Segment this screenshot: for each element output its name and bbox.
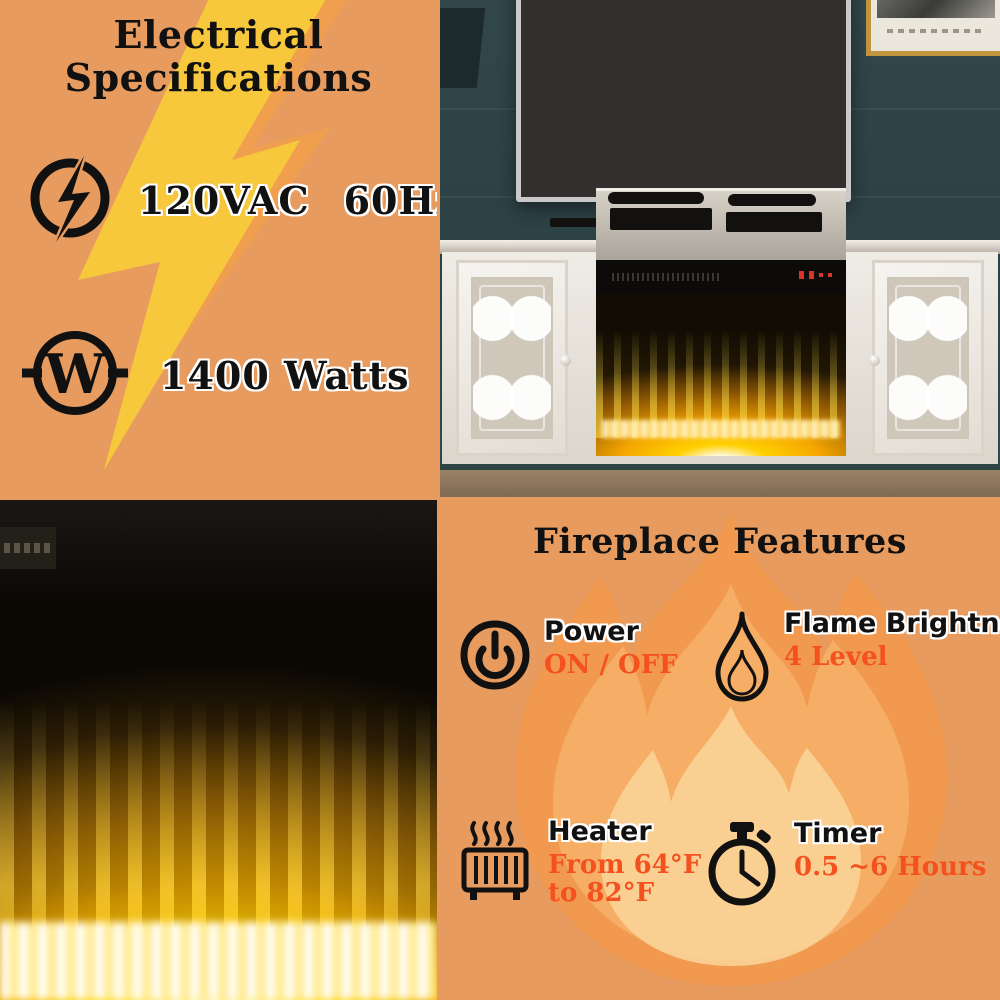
- timer-icon: [702, 820, 782, 911]
- watt-meter-icon: W: [20, 327, 130, 424]
- av-device: [728, 194, 816, 206]
- ember-bed: [602, 420, 840, 438]
- fireplace-top-housing: [0, 500, 437, 605]
- fireplace-vents: [612, 273, 722, 281]
- page-title-features: Fireplace Features: [440, 522, 1000, 561]
- feature-heater-value: From 64°F to 82°F: [548, 851, 701, 908]
- spec-value-wattage: 1400 Watts: [160, 353, 410, 398]
- heater-icon: [458, 818, 536, 909]
- crystal-inlay-pattern: [887, 277, 969, 439]
- door-knob[interactable]: [560, 355, 571, 366]
- picture-caption-text: [887, 29, 985, 33]
- cabinet-door-right[interactable]: [872, 260, 984, 456]
- spec-value-voltage: 120VAC60Hz: [138, 178, 437, 223]
- framed-picture: [866, 0, 1000, 56]
- feature-flame-brightness-value: 4 Level: [784, 643, 1000, 672]
- feature-power-label: Power: [544, 618, 678, 647]
- feature-timer-label: Timer: [794, 820, 986, 849]
- voltage-value: 120VAC: [138, 178, 310, 223]
- fireplace-flame-glow: [596, 294, 846, 456]
- cabinet-body: [442, 252, 998, 464]
- control-panel[interactable]: [0, 527, 56, 569]
- frequency-value: 60Hz: [344, 178, 437, 223]
- feature-timer-value: 0.5 ~6 Hours: [794, 853, 986, 882]
- feature-flame-brightness: Flame Brightness 4 Level: [712, 610, 1000, 707]
- specs-title-line-1: Electrical: [0, 14, 437, 57]
- power-icon: [458, 618, 532, 697]
- panel-product-photo: [440, 0, 1000, 497]
- flame-watermark-graphic: [495, 510, 965, 1000]
- flat-screen-tv: [516, 0, 851, 202]
- spec-row-voltage: 120VAC60Hz: [24, 152, 437, 249]
- fireplace-control-header: [596, 260, 846, 294]
- ember-crystals: [0, 922, 437, 1000]
- mirrored-tv-stand: [440, 240, 1000, 497]
- spec-row-wattage: W 1400 Watts: [20, 327, 410, 424]
- panel-electrical-specifications: Electrical Specifications 120VAC60Hz: [0, 0, 437, 497]
- feature-heater-label: Heater: [548, 818, 701, 847]
- av-device: [610, 208, 712, 230]
- flame-bed: [0, 600, 437, 1000]
- room-floor: [440, 470, 1000, 497]
- panel-flame-closeup: [0, 500, 437, 1000]
- page-title-specs: Electrical Specifications: [0, 14, 437, 99]
- feature-flame-brightness-label: Flame Brightness: [784, 610, 1000, 639]
- cabinet-door-left[interactable]: [456, 260, 568, 456]
- door-knob[interactable]: [869, 355, 880, 366]
- flame-icon: [712, 610, 772, 707]
- electric-fireplace-insert: [596, 260, 846, 456]
- lightning-bolt-circle-icon: [24, 152, 116, 249]
- crystal-inlay-pattern: [471, 277, 553, 439]
- feature-heater: Heater From 64°F to 82°F: [458, 818, 701, 909]
- av-device: [608, 192, 704, 204]
- feature-power-value: ON / OFF: [544, 651, 678, 680]
- feature-timer: Timer 0.5 ~6 Hours: [702, 820, 986, 911]
- led-display: [799, 271, 832, 279]
- specs-title-line-2: Specifications: [0, 57, 437, 100]
- feature-power: Power ON / OFF: [458, 618, 678, 697]
- svg-text:W: W: [44, 342, 107, 406]
- panel-fireplace-features: Fireplace Features Power ON / OFF: [440, 500, 1000, 1000]
- infographic-board: Electrical Specifications 120VAC60Hz: [0, 0, 1000, 1000]
- picture-image: [877, 0, 995, 18]
- av-device: [726, 212, 822, 232]
